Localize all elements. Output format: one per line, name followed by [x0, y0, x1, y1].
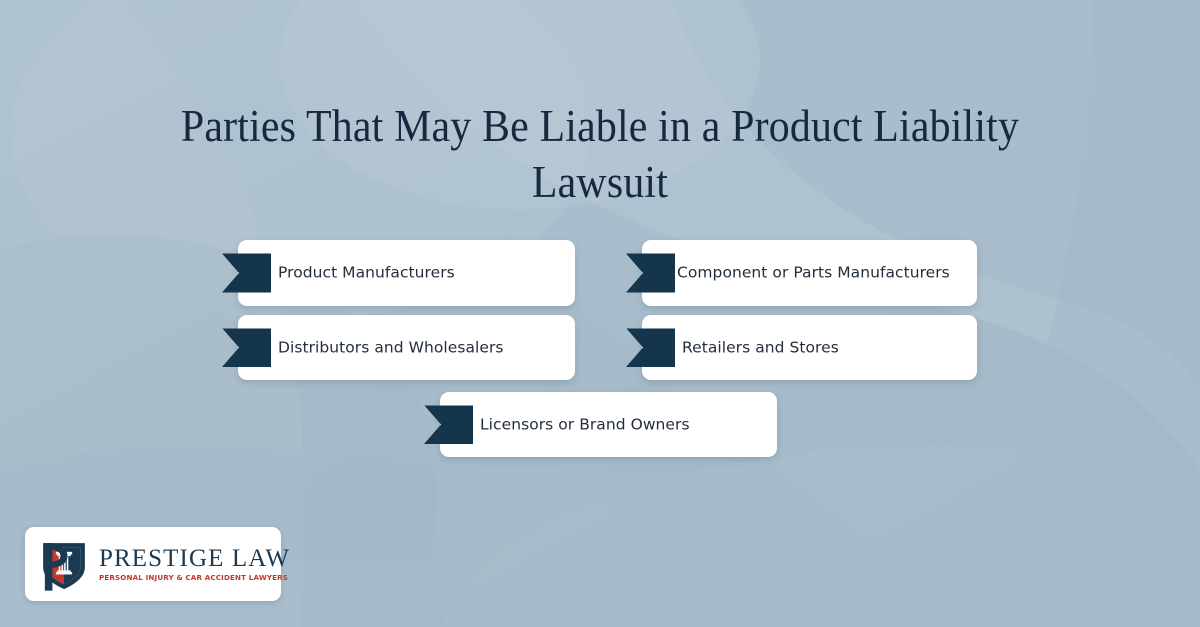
liable-party-label: Licensors or Brand Owners [480, 413, 763, 436]
page-title: Parties That May Be Liable in a Product … [135, 98, 1065, 210]
shield-column-p-icon [35, 535, 93, 593]
liable-party-label: Retailers and Stores [682, 336, 963, 359]
liable-party-card[interactable]: Retailers and Stores [642, 315, 977, 380]
logo-tagline: PERSONAL INJURY & CAR ACCIDENT LAWYERS [99, 573, 290, 583]
liable-party-label: Product Manufacturers [278, 262, 561, 285]
logo-text-block: PRESTIGE LAW PERSONAL INJURY & CAR ACCID… [99, 545, 290, 583]
logo-wordmark: PRESTIGE LAW [99, 545, 290, 572]
liable-party-label: Component or Parts Manufacturers [677, 262, 963, 285]
liable-party-card[interactable]: Product Manufacturers [238, 240, 575, 306]
liable-party-card[interactable]: Licensors or Brand Owners [440, 392, 777, 457]
liable-party-card[interactable]: Distributors and Wholesalers [238, 315, 575, 380]
liable-party-card[interactable]: Component or Parts Manufacturers [642, 240, 977, 306]
liable-party-label: Distributors and Wholesalers [278, 336, 561, 359]
brand-logo[interactable]: PRESTIGE LAW PERSONAL INJURY & CAR ACCID… [25, 527, 281, 601]
infographic-canvas: Parties That May Be Liable in a Product … [0, 0, 1200, 627]
